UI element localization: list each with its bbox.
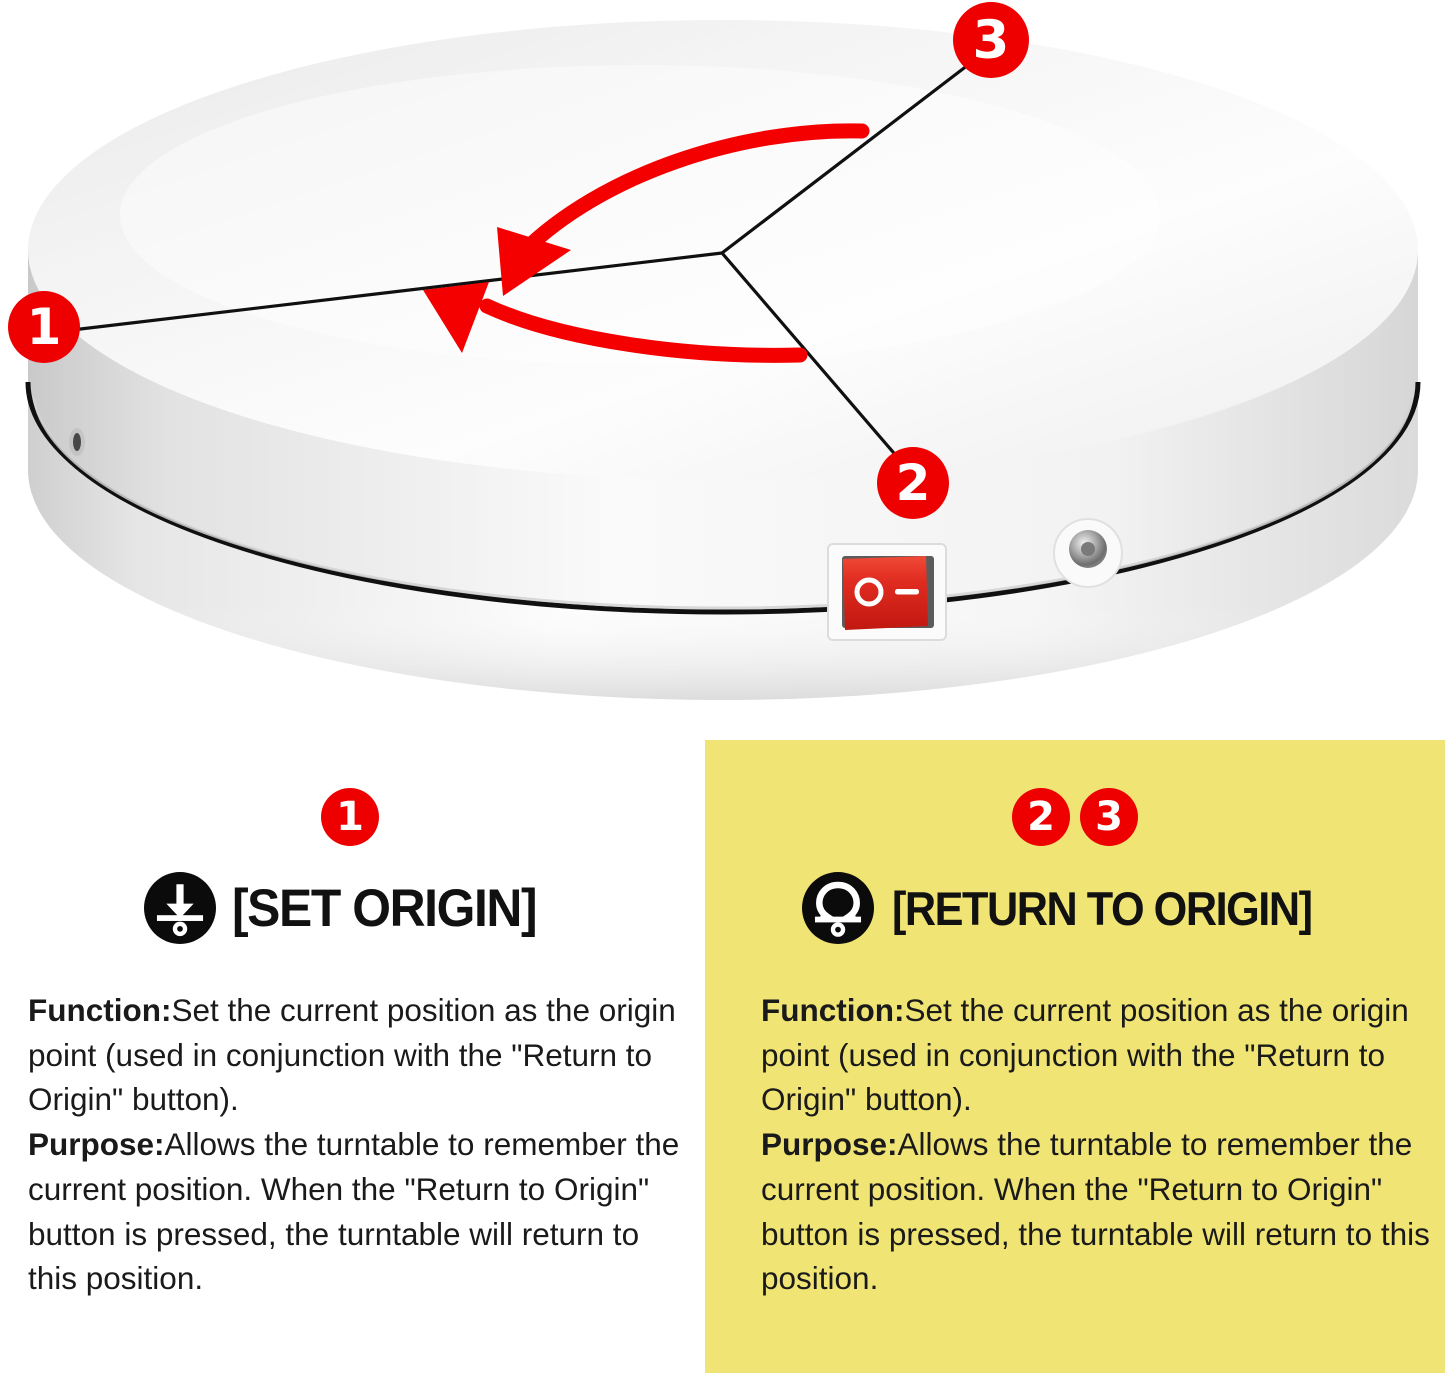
panel-set-origin-heading: [SET ORIGIN] bbox=[0, 872, 700, 944]
panel-set-origin-badges: 1 bbox=[0, 788, 700, 846]
callout-badge-3[interactable]: 3 bbox=[953, 2, 1029, 78]
purpose-paragraph: Purpose:Allows the turntable to remember… bbox=[28, 1122, 683, 1301]
function-label: Function: bbox=[28, 992, 171, 1028]
purpose-label: Purpose: bbox=[28, 1126, 165, 1162]
panel-badge-1: 1 bbox=[321, 788, 379, 846]
panel-return-to-origin-body: Function:Set the current position as the… bbox=[761, 988, 1431, 1301]
dc-power-port bbox=[1054, 519, 1122, 587]
panel-return-to-origin-heading: [RETURN TO ORIGIN] bbox=[705, 872, 1445, 944]
panel-set-origin-body: Function:Set the current position as the… bbox=[28, 988, 683, 1301]
turntable-illustration bbox=[0, 0, 1445, 740]
set-origin-icon bbox=[144, 872, 216, 944]
function-paragraph: Function:Set the current position as the… bbox=[28, 988, 683, 1122]
info-panels: 1 [SET ORIGIN] Function:Set the current … bbox=[0, 740, 1445, 1373]
panel-set-origin-title: [SET ORIGIN] bbox=[232, 882, 536, 935]
panel-badge-2: 2 bbox=[1012, 788, 1070, 846]
callout-badge-1[interactable]: 1 bbox=[8, 291, 80, 363]
purpose-paragraph: Purpose:Allows the turntable to remember… bbox=[761, 1122, 1431, 1301]
status-led-slot bbox=[69, 428, 85, 456]
product-photo-stage: 1 2 3 bbox=[0, 0, 1445, 740]
return-to-origin-icon bbox=[802, 872, 874, 944]
panel-return-to-origin-badges: 2 3 bbox=[705, 788, 1445, 846]
panel-badge-3: 3 bbox=[1080, 788, 1138, 846]
panel-set-origin: 1 [SET ORIGIN] Function:Set the current … bbox=[0, 740, 700, 1373]
callout-badge-2[interactable]: 2 bbox=[877, 447, 949, 519]
function-label: Function: bbox=[761, 992, 904, 1028]
turntable-rotating-plate bbox=[28, 20, 1418, 612]
function-paragraph: Function:Set the current position as the… bbox=[761, 988, 1431, 1122]
purpose-label: Purpose: bbox=[761, 1126, 898, 1162]
panel-return-to-origin-title: [RETURN TO ORIGIN] bbox=[892, 885, 1312, 932]
panel-return-to-origin: 2 3 [RETURN TO ORIGIN] Function:Set the … bbox=[705, 740, 1445, 1373]
power-rocker-switch[interactable] bbox=[828, 544, 946, 640]
